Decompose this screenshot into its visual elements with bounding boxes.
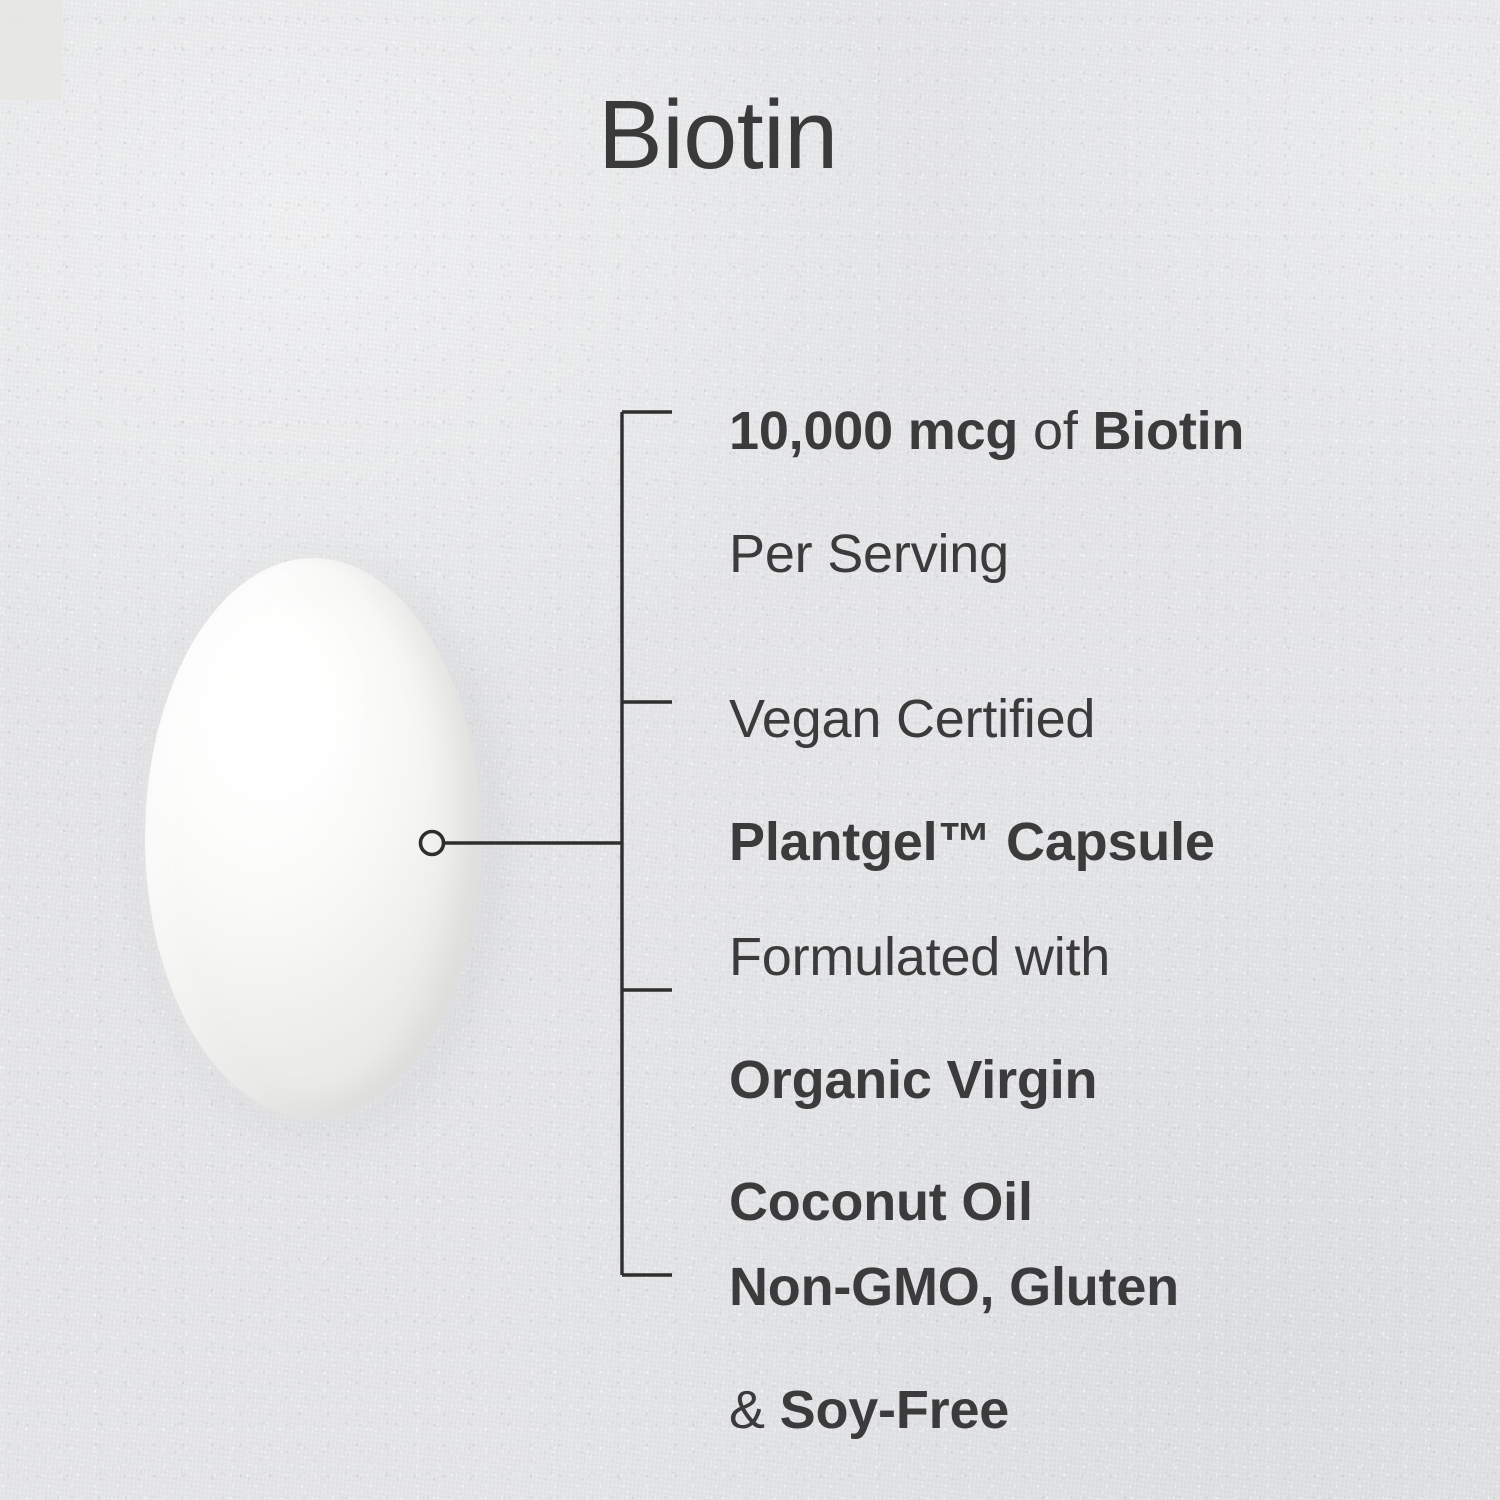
callout-coconut-oil-line1: Formulated with [729,927,1110,988]
callout-free-from-ampersand: & [729,1380,780,1440]
callout-dosage-amount: 10,000 mcg [729,401,1018,461]
callout-dosage-conjunction: of [1018,401,1092,461]
callout-vegan-capsule-line2: Plantgel™ Capsule [729,812,1215,873]
callout-free-from-line2: & Soy-Free [729,1380,1179,1441]
infographic-canvas: Biotin 10,000 mcg of Biotin Per Serving … [0,0,1500,1500]
callout-free-from-claim: Soy-Free [780,1380,1009,1440]
callout-free-from-line1: Non-GMO, Gluten [729,1257,1179,1318]
callout-coconut-oil-line2: Organic Virgin [729,1050,1110,1111]
corner-tone-patch [0,0,62,100]
callout-vegan-capsule-line1: Vegan Certified [729,689,1215,750]
callout-dosage-nutrient: Biotin [1092,401,1244,461]
callout-dosage: 10,000 mcg of Biotin Per Serving [729,340,1244,646]
callout-dosage-line1: 10,000 mcg of Biotin [729,401,1244,462]
page-title: Biotin [598,86,838,183]
callout-free-from: Non-GMO, Gluten & Soy-Free [729,1196,1179,1500]
callout-dosage-line2: Per Serving [729,524,1244,585]
product-capsule-image [145,558,481,1118]
